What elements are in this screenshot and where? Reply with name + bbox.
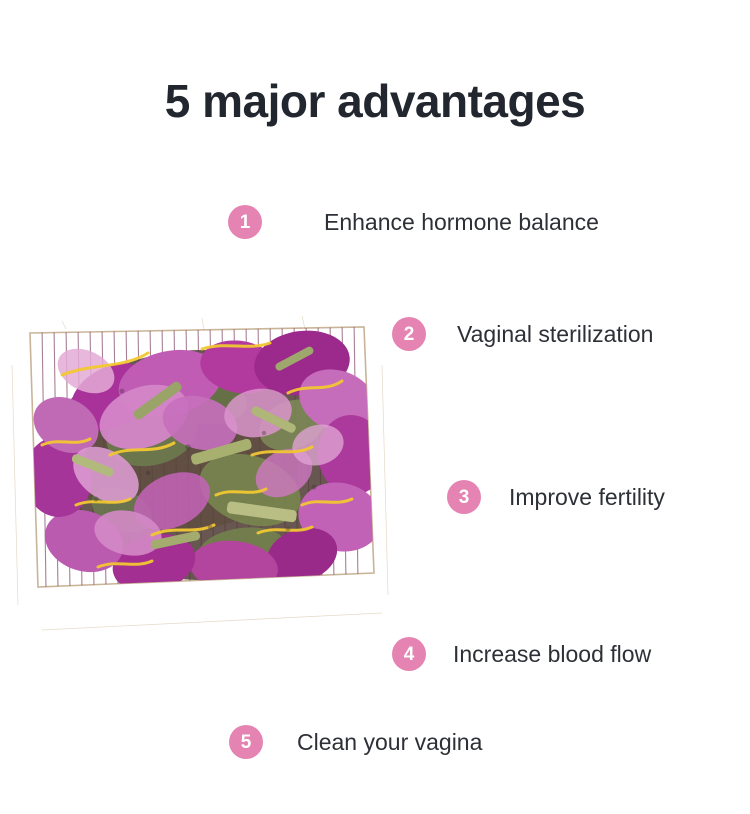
advantage-number-badge-5: 5 <box>229 725 263 759</box>
advantage-label-5: Clean your vagina <box>297 729 482 756</box>
advantage-label-3: Improve fertility <box>509 484 665 511</box>
advantage-number-badge-4: 4 <box>392 637 426 671</box>
page-title: 5 major advantages <box>0 78 750 124</box>
advantage-item-4[interactable]: 4 Increase blood flow <box>392 637 651 671</box>
advantage-item-5[interactable]: 5 Clean your vagina <box>229 725 482 759</box>
advantage-item-2[interactable]: 2 Vaginal sterilization <box>392 317 653 351</box>
advantage-label-2: Vaginal sterilization <box>457 321 653 348</box>
advantage-item-3[interactable]: 3 Improve fertility <box>447 480 665 514</box>
advantage-number-badge-2: 2 <box>392 317 426 351</box>
advantage-number-badge-1: 1 <box>228 205 262 239</box>
product-illustration <box>2 305 394 655</box>
advantage-number-badge-3: 3 <box>447 480 481 514</box>
product-image <box>2 305 394 655</box>
dried-botanicals <box>21 325 390 601</box>
advantage-item-1[interactable]: 1 Enhance hormone balance <box>228 205 599 239</box>
advantage-label-4: Increase blood flow <box>453 641 651 668</box>
advantage-label-1: Enhance hormone balance <box>324 209 599 236</box>
